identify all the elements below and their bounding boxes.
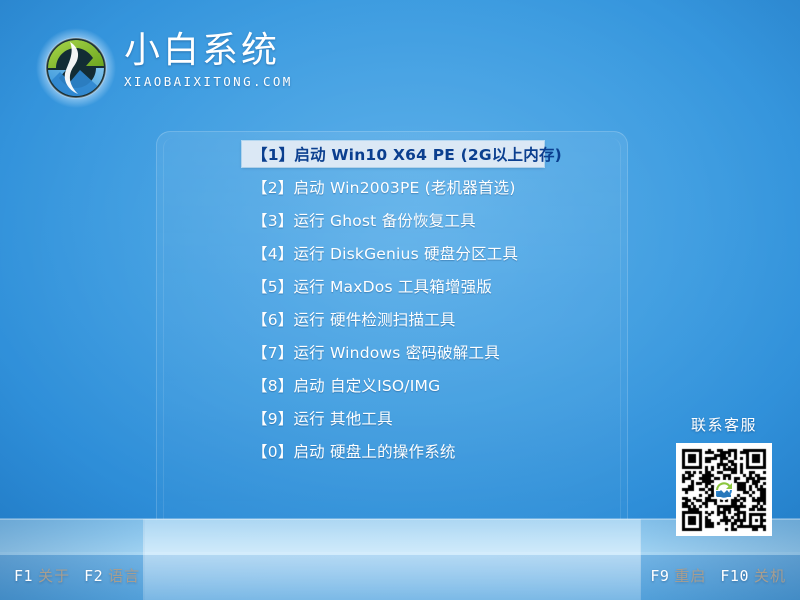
menu-item-7[interactable]: 【7】运行 Windows 密码破解工具: [242, 339, 544, 365]
menu-item-2[interactable]: 【2】启动 Win2003PE (老机器首选): [242, 174, 544, 200]
menu-item-label: 【3】运行 Ghost 备份恢复工具: [242, 209, 476, 231]
fkey-f2[interactable]: F2: [84, 567, 103, 585]
qr-center-logo-icon: [714, 480, 734, 500]
fkey-f9-label: 重启: [674, 567, 706, 585]
menu-item-label: 【2】启动 Win2003PE (老机器首选): [242, 176, 516, 198]
menu-item-label: 【5】运行 MaxDos 工具箱增强版: [242, 275, 492, 297]
brand-text: 小白系统 XIAOBAIXITONG.COM: [124, 30, 314, 89]
menu-item-0[interactable]: 【0】启动 硬盘上的操作系统: [242, 438, 544, 464]
menu-item-label: 【8】启动 自定义ISO/IMG: [242, 374, 440, 396]
menu-item-6[interactable]: 【6】运行 硬件检测扫描工具: [242, 306, 544, 332]
menu-item-8[interactable]: 【8】启动 自定义ISO/IMG: [242, 372, 544, 398]
menu-item-label: 【0】启动 硬盘上的操作系统: [242, 440, 456, 462]
menu-item-1[interactable]: 【1】启动 Win10 X64 PE (2G以上内存): [242, 141, 544, 167]
fkey-f10-label: 关机: [754, 567, 786, 585]
refresh-globe-icon: [34, 26, 118, 110]
brand-name-cn: 小白系统: [124, 30, 314, 72]
stage-floor-highlight: [143, 519, 641, 600]
menu-item-5[interactable]: 【5】运行 MaxDos 工具箱增强版: [242, 273, 544, 299]
footer-hints-left: F1关于F2语言: [14, 565, 140, 586]
menu-item-label: 【7】运行 Windows 密码破解工具: [242, 341, 500, 363]
menu-item-label: 【4】运行 DiskGenius 硬盘分区工具: [242, 242, 518, 264]
brand-logo: 小白系统 XIAOBAIXITONG.COM: [26, 22, 316, 112]
menu-item-4[interactable]: 【4】运行 DiskGenius 硬盘分区工具: [242, 240, 544, 266]
footer-hints-right: F9重启F10关机: [650, 565, 786, 586]
menu-item-3[interactable]: 【3】运行 Ghost 备份恢复工具: [242, 207, 544, 233]
boot-menu-list: 【1】启动 Win10 X64 PE (2G以上内存) 【2】启动 Win200…: [242, 141, 544, 471]
fkey-f9[interactable]: F9: [650, 567, 669, 585]
fkey-f10[interactable]: F10: [720, 567, 749, 585]
fkey-f1[interactable]: F1: [14, 567, 33, 585]
menu-item-9[interactable]: 【9】运行 其他工具: [242, 405, 544, 431]
qr-code-icon[interactable]: [676, 443, 772, 536]
stage-floor-shadow-left: [0, 519, 145, 600]
brand-name-en: XIAOBAIXITONG.COM: [124, 74, 314, 89]
menu-item-label: 【1】启动 Win10 X64 PE (2G以上内存): [242, 143, 562, 165]
customer-service-title: 联系客服: [672, 414, 776, 435]
menu-item-label: 【9】运行 其他工具: [242, 407, 393, 429]
fkey-f2-label: 语言: [108, 567, 140, 585]
customer-service-block: 联系客服: [672, 414, 776, 536]
fkey-f1-label: 关于: [38, 567, 70, 585]
boot-menu-screen: 小白系统 XIAOBAIXITONG.COM 【1】启动 Win10 X64 P…: [0, 0, 800, 600]
menu-item-label: 【6】运行 硬件检测扫描工具: [242, 308, 456, 330]
